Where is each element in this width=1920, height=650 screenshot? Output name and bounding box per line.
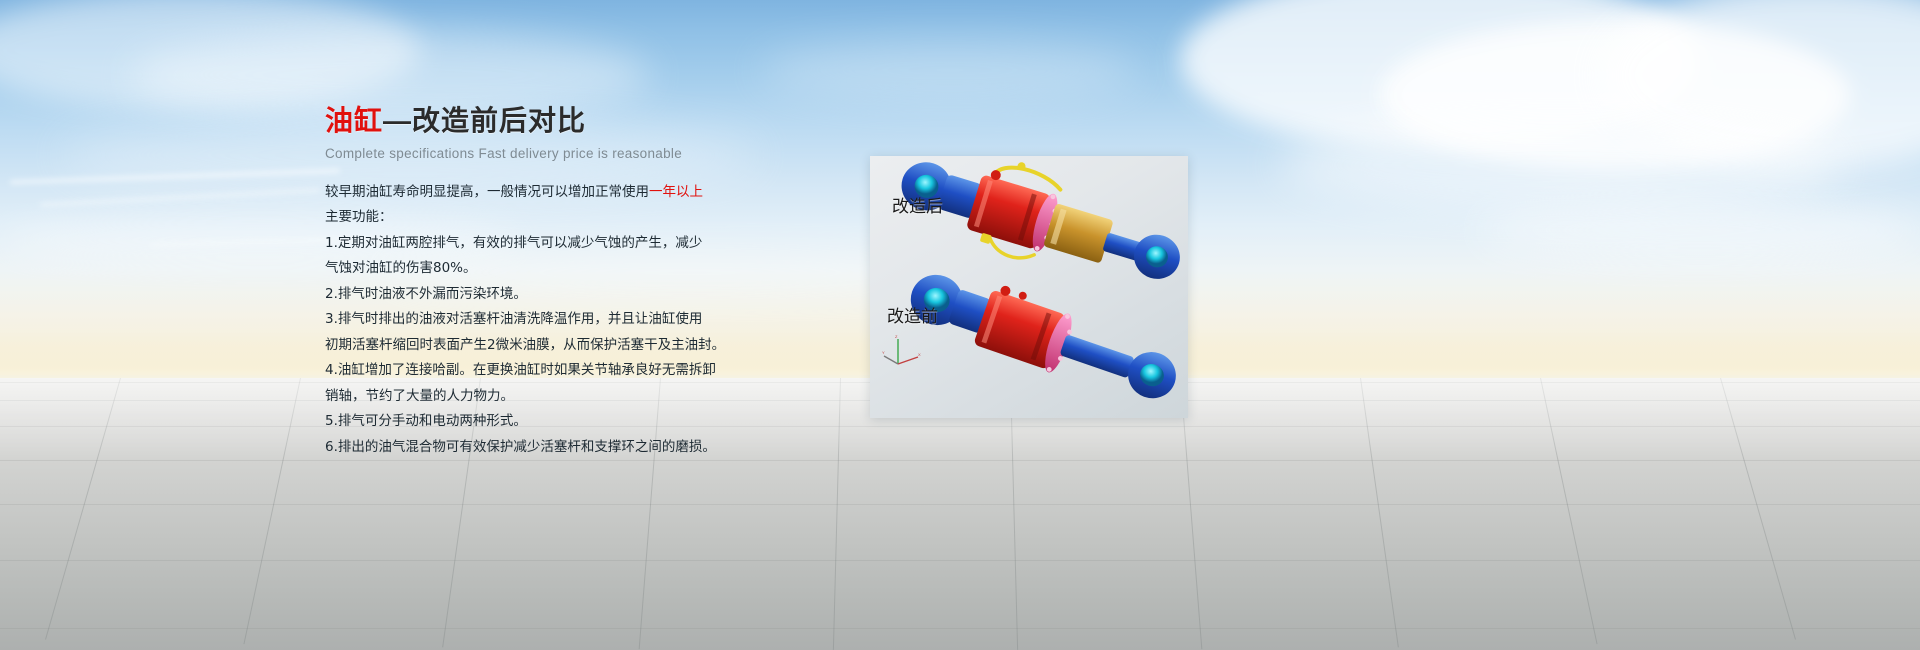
body-line-text: 主要功能： [325,209,393,225]
coordinate-axis-icon: Z X Y [882,334,922,368]
cylinder-after-illustration [878,161,1188,281]
body-line: 6.排出的油气混合物可有效保护减少活塞杆和支撑环之间的磨损。 [325,435,845,461]
body-line: 2.排气时油液不外漏而污染环境。 [325,282,845,308]
body-line-text: 较早期油缸寿命明显提高，一般情况可以增加正常使用 [325,184,649,200]
title-accent: 油缸 [325,105,383,136]
pavement-background [0,378,1920,650]
body-line: 3.排气时排出的油液对活塞杆油清洗降温作用，并且让油缸使用 [325,307,845,333]
body-line: 4.油缸增加了连接哈副。在更换油缸时如果关节轴承良好无需拆卸 [325,358,845,384]
body-line-text: 5.排气可分手动和电动两种形式。 [325,413,527,429]
product-image-panel[interactable]: 改造后 改造前 Z X Y [870,156,1188,418]
label-after-modification: 改造后 [892,192,943,217]
label-before-modification: 改造前 [887,302,938,327]
body-copy: 较早期油缸寿命明显提高，一般情况可以增加正常使用一年以上主要功能：1.定期对油缸… [325,180,845,461]
body-line: 1.定期对油缸两腔排气，有效的排气可以减少气蚀的产生，减少 [325,231,845,257]
hero-text-block: 油缸—改造前后对比 Complete specifications Fast d… [325,106,845,460]
body-line-text: 4.油缸增加了连接哈副。在更换油缸时如果关节轴承良好无需拆卸 [325,362,716,378]
body-line: 销轴，节约了大量的人力物力。 [325,384,845,410]
page-subtitle: Complete specifications Fast delivery pr… [325,146,845,161]
page-title: 油缸—改造前后对比 [325,106,845,137]
body-line: 气蚀对油缸的伤害80%。 [325,256,845,282]
body-line-text: 初期活塞杆缩回时表面产生2微米油膜，从而保护活塞干及主油封。 [325,337,725,353]
body-line: 5.排气可分手动和电动两种形式。 [325,409,845,435]
body-line: 初期活塞杆缩回时表面产生2微米油膜，从而保护活塞干及主油封。 [325,333,845,359]
body-line: 主要功能： [325,205,845,231]
svg-text:Z: Z [895,334,898,339]
body-line-text: 销轴，节约了大量的人力物力。 [325,388,514,404]
body-line-highlight: 一年以上 [649,184,703,200]
cloud-shape [1280,120,1840,210]
body-line-text: 2.排气时油液不外漏而污染环境。 [325,286,527,302]
body-line: 较早期油缸寿命明显提高，一般情况可以增加正常使用一年以上 [325,180,845,206]
cloud-shape [760,40,1140,100]
banner-hero: 油缸—改造前后对比 Complete specifications Fast d… [0,0,1920,650]
body-line-text: 1.定期对油缸两腔排气，有效的排气可以减少气蚀的产生，减少 [325,235,702,251]
title-rest: —改造前后对比 [383,105,586,136]
body-line-text: 气蚀对油缸的伤害80%。 [325,260,477,276]
cloud-shape [1480,200,1920,260]
svg-text:X: X [918,352,921,357]
body-line-text: 6.排出的油气混合物可有效保护减少活塞杆和支撑环之间的磨损。 [325,439,716,455]
cylinder-before-illustration [890,274,1188,414]
svg-text:Y: Y [882,350,885,355]
body-line-text: 3.排气时排出的油液对活塞杆油清洗降温作用，并且让油缸使用 [325,311,702,327]
cloud-streak [40,189,320,207]
